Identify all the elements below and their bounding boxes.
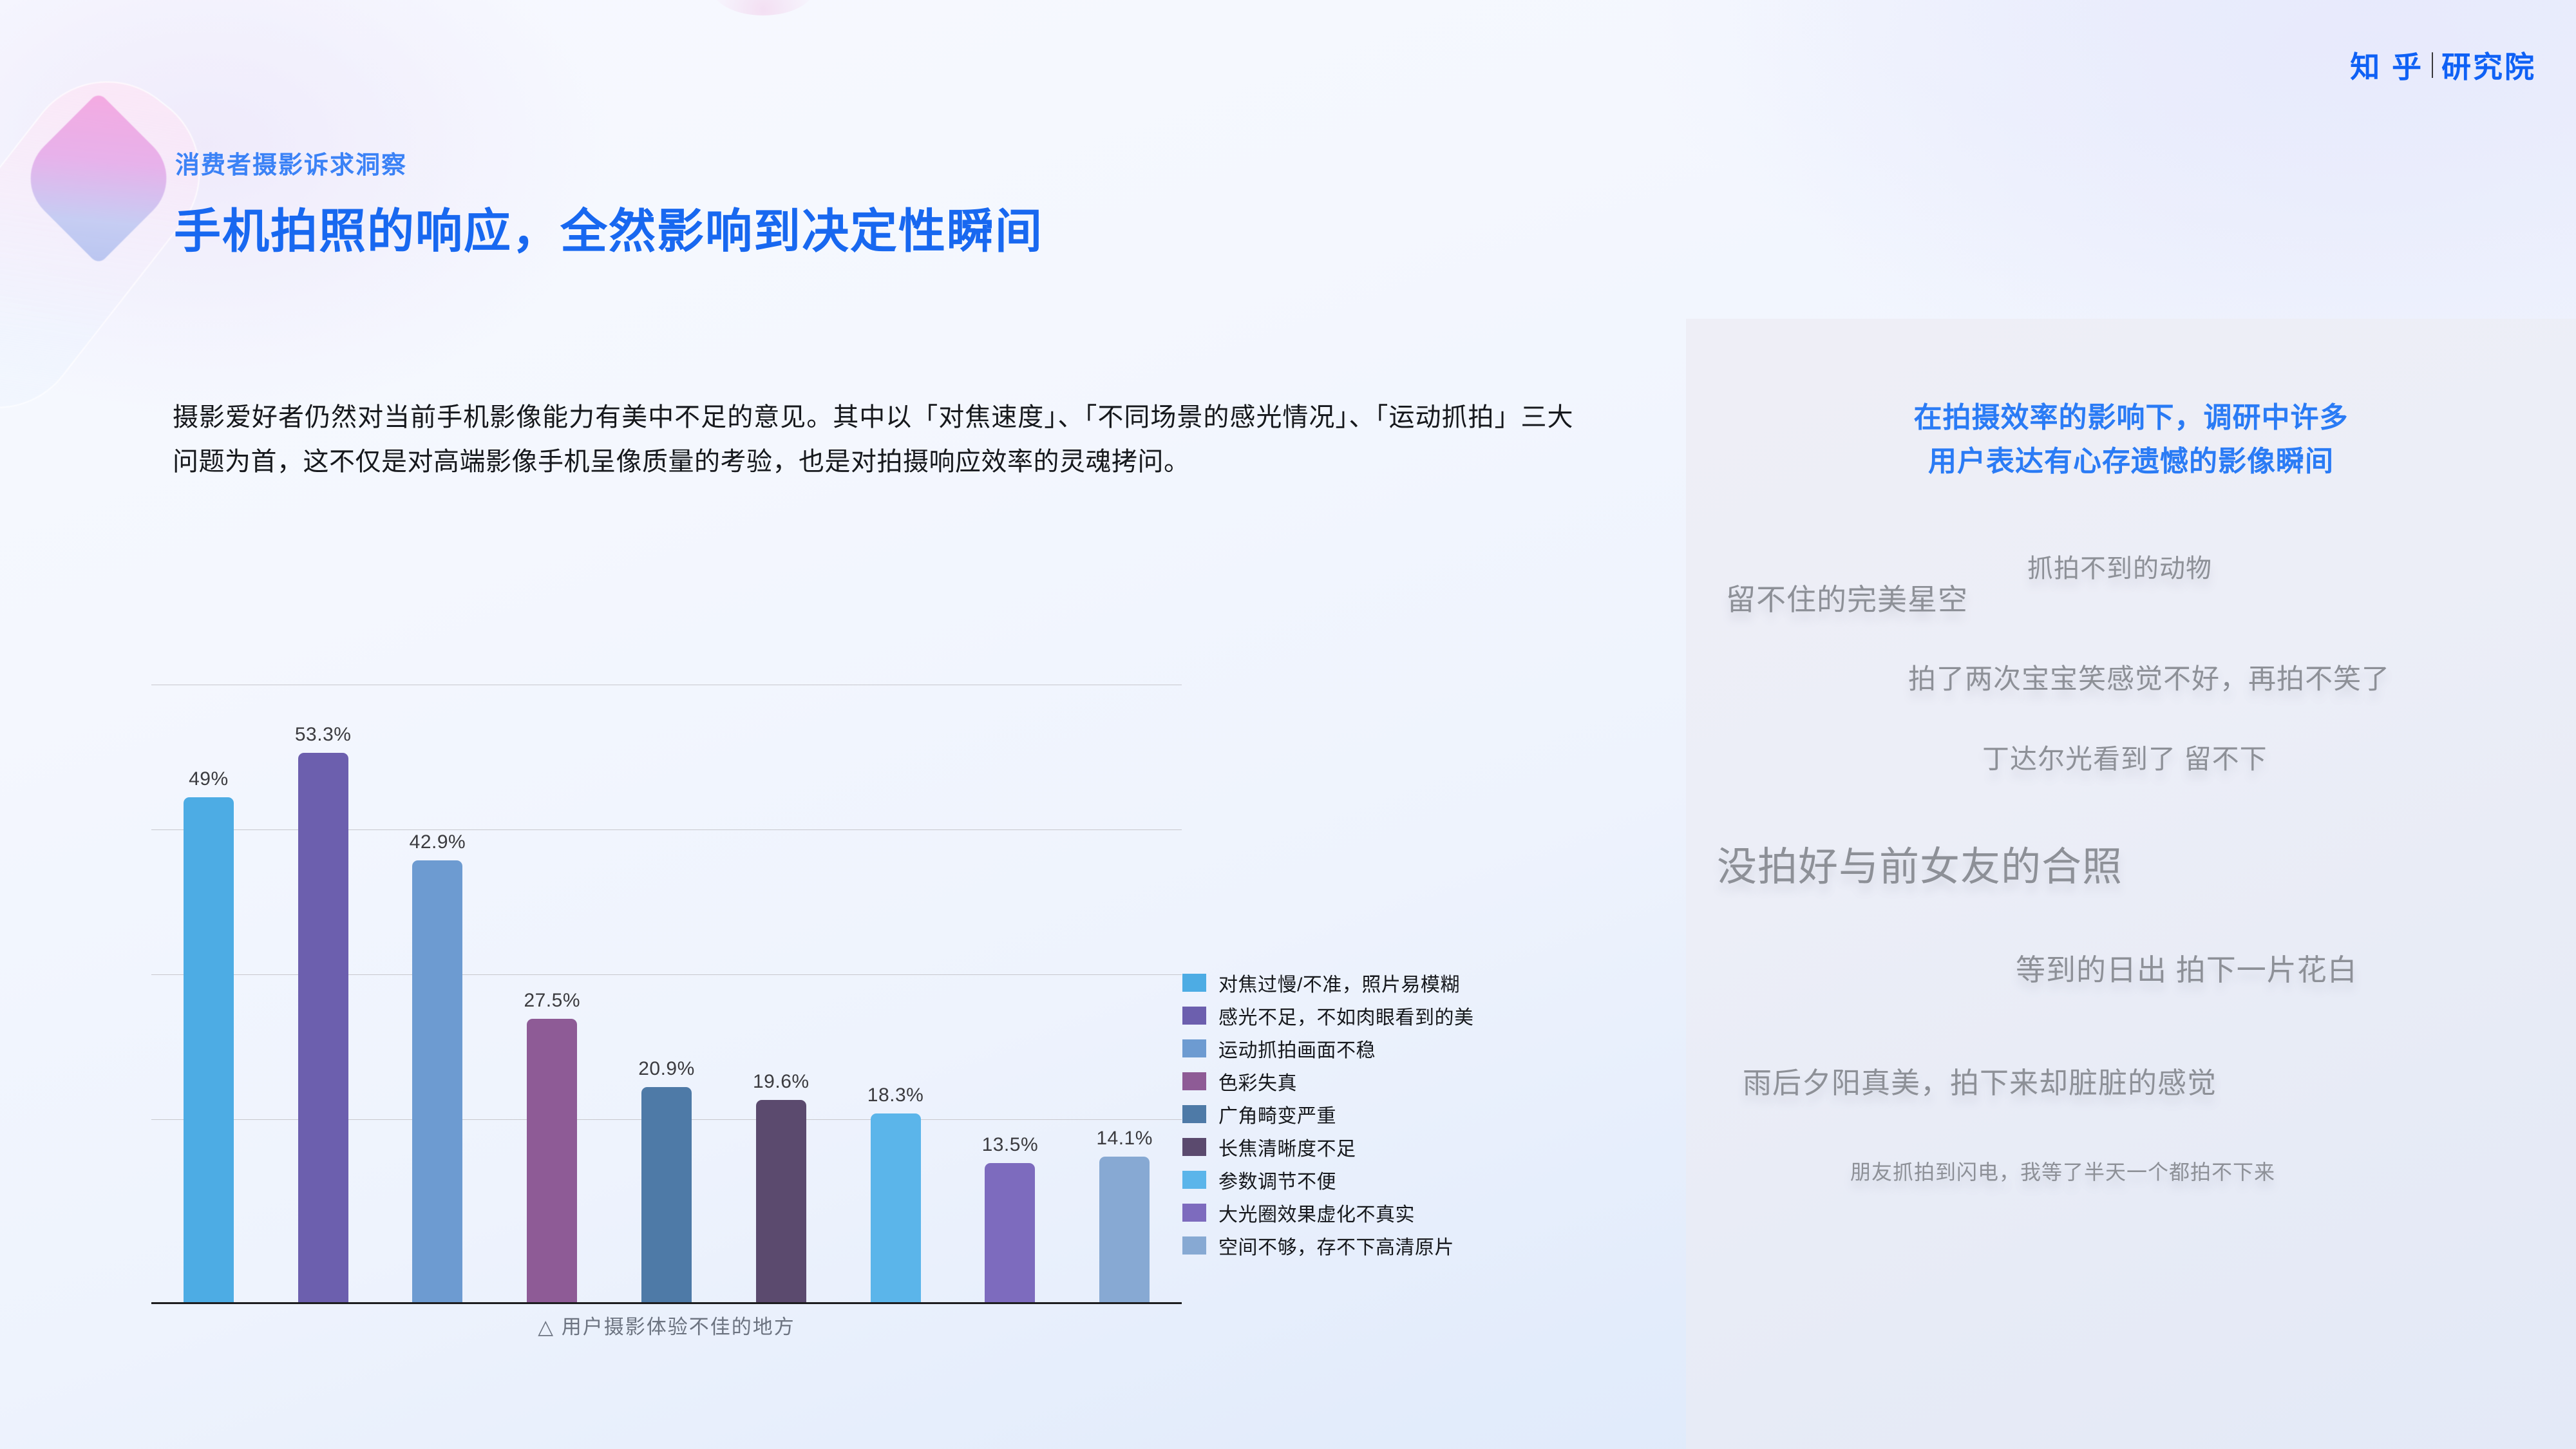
chart-bars-container: 49%53.3%42.9%27.5%20.9%19.6%18.3%13.5%14… bbox=[151, 660, 1182, 1302]
legend-item: 长焦清晰度不足 bbox=[1182, 1130, 1474, 1163]
legend-item: 运动抓拍画面不稳 bbox=[1182, 1032, 1474, 1065]
legend-item: 广角畸变严重 bbox=[1182, 1097, 1474, 1130]
chart-bar-item: 18.3% bbox=[838, 660, 953, 1302]
chart-legend: 对焦过慢/不准，照片易模糊感光不足，不如肉眼看到的美运动抓拍画面不稳色彩失真广角… bbox=[1182, 966, 1474, 1262]
brand-logo: 知 乎 研究院 bbox=[2350, 44, 2536, 86]
legend-swatch-icon bbox=[1182, 1138, 1206, 1156]
legend-label: 广角畸变严重 bbox=[1218, 1100, 1336, 1128]
body-paragraph: 摄影爱好者仍然对当前手机影像能力有美中不足的意见。其中以「对焦速度」、「不同场景… bbox=[173, 395, 1573, 484]
bar bbox=[1099, 1157, 1150, 1302]
bar-value-label: 20.9% bbox=[638, 1058, 695, 1080]
page-title: 手机拍照的响应，全然影响到决定性瞬间 bbox=[174, 193, 1043, 261]
chart-bar-item: 13.5% bbox=[952, 660, 1067, 1302]
bar-value-label: 13.5% bbox=[982, 1134, 1039, 1156]
bar bbox=[985, 1163, 1035, 1302]
legend-item: 大光圈效果虚化不真实 bbox=[1182, 1196, 1474, 1229]
legend-swatch-icon bbox=[1182, 1105, 1206, 1123]
bar bbox=[641, 1087, 692, 1302]
legend-swatch-icon bbox=[1182, 1072, 1206, 1090]
word-cloud-item: 朋友抓拍到闪电，我等了半天一个都拍不下来 bbox=[1850, 1156, 2275, 1186]
legend-label: 色彩失真 bbox=[1218, 1067, 1297, 1095]
legend-label: 大光圈效果虚化不真实 bbox=[1218, 1198, 1415, 1227]
chart-bar-item: 42.9% bbox=[381, 660, 495, 1302]
legend-item: 色彩失真 bbox=[1182, 1065, 1474, 1097]
chart-bar-item: 27.5% bbox=[495, 660, 609, 1302]
bar-value-label: 53.3% bbox=[295, 724, 352, 746]
legend-item: 对焦过慢/不准，照片易模糊 bbox=[1182, 966, 1474, 999]
legend-item: 感光不足，不如肉眼看到的美 bbox=[1182, 999, 1474, 1032]
chart-bar-item: 20.9% bbox=[609, 660, 724, 1302]
legend-label: 运动抓拍画面不稳 bbox=[1218, 1034, 1376, 1063]
legend-label: 参数调节不便 bbox=[1218, 1166, 1336, 1194]
bar bbox=[756, 1100, 806, 1302]
chart-baseline-axis bbox=[151, 1302, 1182, 1304]
bar-value-label: 42.9% bbox=[410, 831, 466, 853]
legend-swatch-icon bbox=[1182, 1171, 1206, 1189]
word-cloud-item: 雨后夕阳真美，拍下来却脏脏的感觉 bbox=[1743, 1059, 2217, 1101]
slide-root: 知 乎 研究院 消费者摄影诉求洞察 手机拍照的响应，全然影响到决定性瞬间 摄影爱… bbox=[0, 0, 2576, 1449]
bar-value-label: 49% bbox=[189, 768, 229, 790]
legend-swatch-icon bbox=[1182, 1204, 1206, 1222]
bar bbox=[527, 1019, 577, 1302]
insight-panel: 在拍摄效率的影响下，调研中许多 用户表达有心存遗憾的影像瞬间 留不住的完美星空抓… bbox=[1686, 319, 2576, 1449]
legend-swatch-icon bbox=[1182, 974, 1206, 992]
brand-divider-icon bbox=[2432, 52, 2433, 78]
legend-label: 感光不足，不如肉眼看到的美 bbox=[1218, 1001, 1474, 1030]
bar bbox=[412, 860, 462, 1302]
word-cloud-item: 没拍好与前女友的合照 bbox=[1717, 834, 2123, 892]
bar bbox=[298, 753, 348, 1302]
legend-swatch-icon bbox=[1182, 1039, 1206, 1057]
legend-item: 参数调节不便 bbox=[1182, 1163, 1474, 1196]
bar-value-label: 14.1% bbox=[1096, 1128, 1153, 1150]
chart-bar-item: 14.1% bbox=[1067, 660, 1182, 1302]
bar-chart: 49%53.3%42.9%27.5%20.9%19.6%18.3%13.5%14… bbox=[151, 660, 1182, 1304]
word-cloud-item: 留不住的完美星空 bbox=[1726, 576, 1968, 619]
legend-swatch-icon bbox=[1182, 1236, 1206, 1255]
bar bbox=[871, 1113, 921, 1302]
word-cloud-item: 丁达尔光看到了 留不下 bbox=[1982, 737, 2268, 777]
legend-label: 长焦清晰度不足 bbox=[1218, 1133, 1356, 1161]
legend-swatch-icon bbox=[1182, 1007, 1206, 1025]
bar-value-label: 19.6% bbox=[753, 1071, 810, 1093]
bar bbox=[184, 797, 234, 1302]
legend-label: 空间不够，存不下高清原片 bbox=[1218, 1231, 1454, 1260]
decorative-circle-top bbox=[712, 0, 815, 15]
word-cloud-item: 拍了两次宝宝笑感觉不好，再拍不笑了 bbox=[1908, 657, 2390, 697]
brand-name-right: 研究院 bbox=[2441, 44, 2536, 86]
chart-caption: △ 用户摄影体验不佳的地方 bbox=[151, 1311, 1182, 1340]
word-cloud-item: 等到的日出 拍下一片花白 bbox=[2016, 947, 2358, 989]
chart-bar-item: 53.3% bbox=[266, 660, 381, 1302]
section-eyebrow: 消费者摄影诉求洞察 bbox=[175, 145, 407, 180]
word-cloud-item: 抓拍不到的动物 bbox=[2027, 547, 2212, 585]
chart-bar-item: 19.6% bbox=[724, 660, 838, 1302]
bar-value-label: 18.3% bbox=[867, 1084, 924, 1106]
bar-value-label: 27.5% bbox=[524, 990, 580, 1012]
brand-name-left: 知 乎 bbox=[2350, 44, 2423, 86]
chart-bar-item: 49% bbox=[151, 660, 266, 1302]
legend-item: 空间不够，存不下高清原片 bbox=[1182, 1229, 1474, 1262]
legend-label: 对焦过慢/不准，照片易模糊 bbox=[1218, 969, 1460, 997]
word-cloud: 留不住的完美星空抓拍不到的动物拍了两次宝宝笑感觉不好，再拍不笑了丁达尔光看到了 … bbox=[1686, 319, 2576, 1449]
